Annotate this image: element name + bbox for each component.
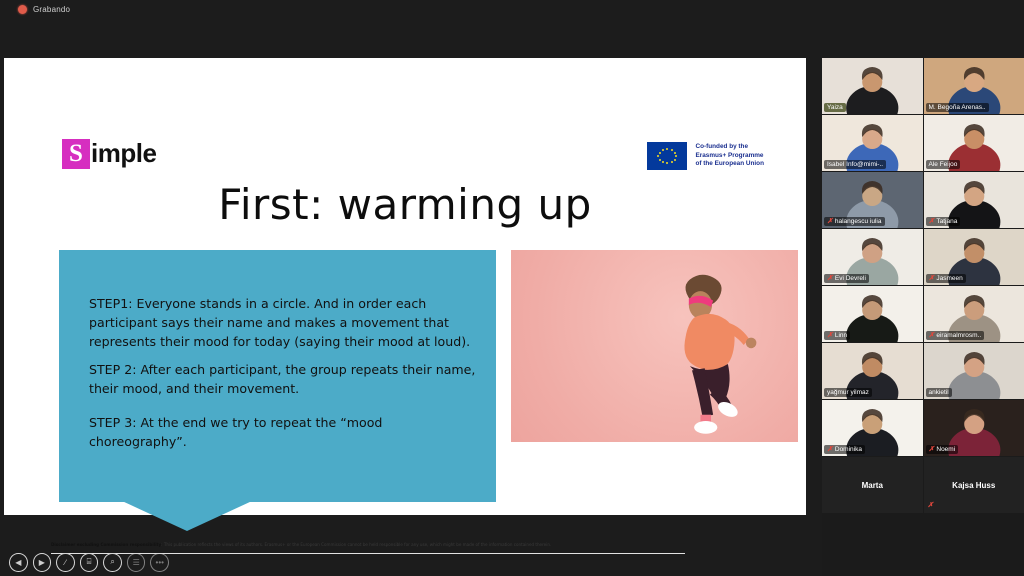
participant-name-badge: ✗halangescu iulia: [824, 217, 885, 226]
slideshow-toolbar[interactable]: ◀▶∕⌸⌕☰•••: [9, 552, 169, 572]
participant-tile[interactable]: ✗Dominika: [822, 400, 923, 456]
participant-name-badge: ✗eiramalmrosm..: [926, 331, 985, 340]
step-1-text: STEP1: Everyone stands in a circle. And …: [89, 294, 481, 351]
eu-flag-icon: [647, 142, 687, 170]
participant-tile[interactable]: ✗Tatjana: [924, 172, 1024, 228]
muted-mic-icon: ✗: [929, 332, 935, 339]
disclaimer-bold: Disclaimer excluding Commission responsi…: [51, 542, 161, 547]
dancer-illustration: [632, 269, 798, 438]
participant-tile[interactable]: M. Begoña Arenas..: [924, 58, 1024, 114]
participant-name: eiramalmrosm..: [936, 332, 981, 339]
participant-name: Noemi: [936, 446, 955, 453]
participant-name: Tatjana: [936, 218, 957, 225]
muted-mic-icon: ✗: [929, 446, 935, 453]
muted-mic-icon: ✗: [928, 502, 934, 509]
participant-name-badge: ankietil: [926, 388, 952, 397]
step-3-text: STEP 3: At the end we try to repeat the …: [89, 413, 481, 451]
presenter-view-button[interactable]: ☰: [127, 553, 146, 572]
participant-name-badge: M. Begoña Arenas..: [926, 103, 989, 112]
participant-grid[interactable]: YaizaM. Begoña Arenas..Isabel Info@mimi-…: [822, 58, 1024, 576]
participant-name-badge: ✗Noemi: [926, 445, 959, 454]
participant-tile[interactable]: ✗Evi Devreli: [822, 229, 923, 285]
shared-slide: S imple Co-funded by the Erasmus+ Progra…: [4, 58, 806, 515]
muted-mic-icon: ✗: [929, 275, 935, 282]
disclaimer-text: Disclaimer excluding Commission responsi…: [51, 542, 691, 548]
participant-name: halangescu iulia: [835, 218, 882, 225]
next-slide-button[interactable]: ▶: [33, 553, 52, 572]
participant-tile[interactable]: ✗Jasmeen: [924, 229, 1024, 285]
simple-logo: S imple: [62, 138, 156, 169]
logo-wordmark: imple: [91, 138, 156, 169]
participant-name-badge: ✗Jasmeen: [926, 274, 966, 283]
participant-name: Dominika: [835, 446, 862, 453]
participant-name-badge: ✗Dominika: [824, 445, 865, 454]
participant-tile[interactable]: ankietil: [924, 343, 1024, 399]
zoom-button[interactable]: ⌕: [103, 553, 122, 572]
participant-name-badge: Yaiza: [824, 103, 846, 112]
participant-name: Linn: [835, 332, 847, 339]
eu-cofunding-badge: Co-funded by the Erasmus+ Programme of t…: [647, 142, 764, 170]
participant-tile[interactable]: Kajsa Huss✗: [924, 457, 1024, 513]
muted-mic-icon: ✗: [827, 218, 833, 225]
participant-name: Marta: [862, 481, 883, 490]
participant-tile[interactable]: ✗Linn: [822, 286, 923, 342]
participant-name-badge: yağmur yilmaz: [824, 388, 872, 397]
participant-tile[interactable]: Marta: [822, 457, 923, 513]
dancing-woman-photo: [511, 250, 798, 442]
more-options-button[interactable]: •••: [150, 553, 169, 572]
record-dot-icon: [18, 5, 27, 14]
participant-name: M. Begoña Arenas..: [929, 104, 986, 111]
muted-mic-icon: ✗: [827, 275, 833, 282]
participant-tile[interactable]: ✗eiramalmrosm..: [924, 286, 1024, 342]
participant-name: Ale Feijoo: [929, 161, 958, 168]
participant-tile[interactable]: Yaiza: [822, 58, 923, 114]
participant-tile[interactable]: ✗Noemi: [924, 400, 1024, 456]
participant-name: Evi Devreli: [835, 275, 866, 282]
participant-name: yağmur yilmaz: [827, 389, 869, 396]
participant-name-badge: Isabel Info@mimi-..: [824, 160, 886, 169]
step-2-text: STEP 2: After each participant, the grou…: [89, 360, 481, 398]
participant-tile[interactable]: yağmur yilmaz: [822, 343, 923, 399]
callout-tail: [122, 501, 252, 531]
participant-name: Kajsa Huss: [952, 481, 995, 490]
participant-name-badge: Ale Feijoo: [926, 160, 961, 169]
participant-name: Jasmeen: [936, 275, 962, 282]
participant-tile[interactable]: Ale Feijoo: [924, 115, 1024, 171]
all-slides-button[interactable]: ⌸: [80, 553, 99, 572]
muted-mic-icon: ✗: [827, 446, 833, 453]
previous-slide-button[interactable]: ◀: [9, 553, 28, 572]
participant-tile[interactable]: ✗halangescu iulia: [822, 172, 923, 228]
muted-mic-icon: ✗: [929, 218, 935, 225]
participant-name: Yaiza: [827, 104, 843, 111]
recording-indicator: Grabando: [0, 0, 820, 18]
eu-badge-text: Co-funded by the Erasmus+ Programme of t…: [695, 143, 764, 168]
participant-name: ankietil: [929, 389, 949, 396]
disclaimer-rest: : This publication reflects the views of…: [161, 542, 551, 547]
meeting-screen-share-view: Grabando S imple Co-funded by the Erasmu…: [0, 0, 1024, 576]
participant-name: Isabel Info@mimi-..: [827, 161, 883, 168]
participant-name-badge: ✗Evi Devreli: [824, 274, 869, 283]
steps-callout-box: STEP1: Everyone stands in a circle. And …: [59, 250, 496, 502]
logo-letter-box: S: [62, 139, 90, 169]
participant-name-badge: ✗Tatjana: [926, 217, 961, 226]
page-title: First: warming up: [4, 180, 806, 229]
recording-label: Grabando: [33, 5, 70, 14]
participant-tile[interactable]: Isabel Info@mimi-..: [822, 115, 923, 171]
participant-name-badge: ✗Linn: [824, 331, 850, 340]
pen-tool-button[interactable]: ∕: [56, 553, 75, 572]
muted-mic-icon: ✗: [827, 332, 833, 339]
